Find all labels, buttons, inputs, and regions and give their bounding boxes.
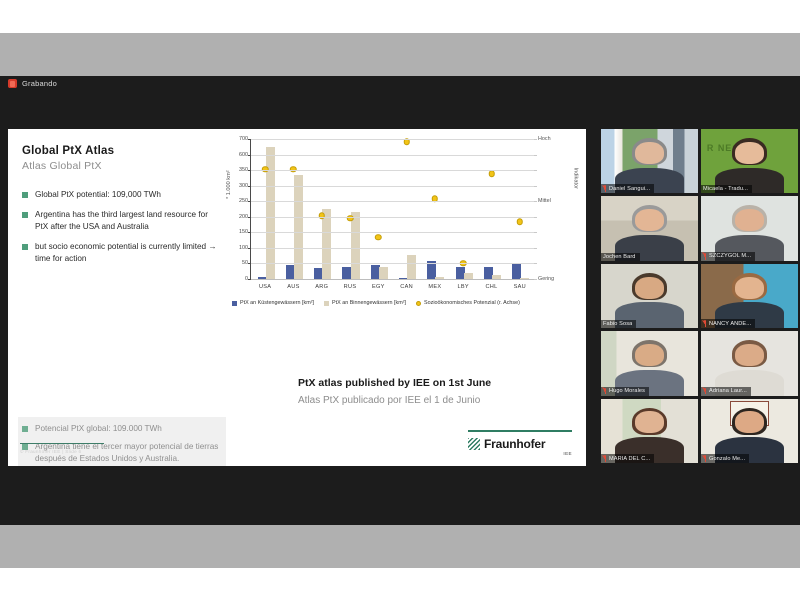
chart-caption-english: PtX atlas published by IEE on 1st June [298,377,491,389]
participant-nameplate: Fabio Sosa [601,320,636,328]
chart-x-tick: LBY [449,284,477,290]
participant-face [735,209,764,231]
chart-y-tick-mark [248,263,251,264]
participant-face [635,344,664,366]
chart-category: ARG [308,139,336,279]
chart-gridline [251,186,534,187]
chart-y-tick-mark [248,217,251,218]
participant-nameplate: SZCZYGOL M... [701,252,755,261]
mic-slash-icon [702,387,706,392]
chart-category: EGY [364,139,392,279]
list-item: Potencial PtX global: 109.000 TWh [22,423,222,435]
logo-name: Fraunhofer [484,438,545,450]
chart-x-tick: CHL [477,284,505,290]
participant-name: NANCY ANDE... [709,321,751,327]
chart-category: LBY [449,139,477,279]
letterbox-band-top [0,33,800,76]
shared-slide[interactable]: Global PtX Atlas Atlas Global PtX Global… [8,129,586,466]
chart-x-tick: ARG [308,284,336,290]
chart-y-tick: 350 [239,167,248,173]
logo-institute: IEE [468,451,572,456]
participant-video [601,264,698,328]
chart-right-tick-mark [534,263,537,264]
chart-right-tick-mark [534,232,537,233]
chart-y-tick-mark [248,248,251,249]
ptx-chart: * 1.000 km² Indikator USAAUSARGRUSEGYCAN… [226,137,576,317]
chart-y-tick-mark [248,155,251,156]
chart-y-tick-mark [248,201,251,202]
mic-muted-icon [703,455,707,462]
chart-right-tick-mark [534,170,537,171]
participant-tile[interactable]: Hugo Morales [601,331,698,395]
participant-nameplate: Daniel Sangui... [601,184,654,193]
participant-tile[interactable]: Gonzalo Me... [701,399,798,463]
chart-category: RUS [336,139,364,279]
recording-indicator[interactable]: Grabando [8,79,57,88]
participant-name: Daniel Sangui... [609,186,650,192]
participant-nameplate: MARIA DEL C... [601,454,654,463]
participant-tile[interactable]: MARIA DEL C... [601,399,698,463]
participant-face [635,411,664,433]
chart-gridline [251,263,534,264]
participant-nameplate: Hugo Morales [601,387,649,396]
chart-gridline [251,232,534,233]
mic-slash-icon [602,455,606,460]
chart-right-tick-mark [534,279,537,280]
chart-legend: PtX an Küstengewässern [km²]PtX an Binne… [232,300,520,306]
participant-name: Fabio Sosa [603,321,632,327]
bullet-list-english: Global PtX potential: 109,000 TWh Argent… [22,189,222,272]
chart-category: CHL [477,139,505,279]
participant-face [735,344,764,366]
chart-x-tick: RUS [336,284,364,290]
mic-muted-icon [603,185,607,192]
bullet-text: but socio economic potential is currentl… [35,241,222,265]
mic-muted-icon [703,388,707,395]
bar-inland [379,267,388,279]
participant-tile[interactable]: Daniel Sangui... [601,129,698,193]
chart-right-tick-mark [534,139,537,140]
chart-right-axis-label: Indikator [572,168,578,189]
chart-y-tick: 250 [239,198,248,204]
mic-muted-icon [703,320,707,327]
scatter-point-socioeconomic [375,234,382,241]
chart-y-axis-label: * 1.000 km² [226,170,232,199]
participant-grid: Daniel Sangui...R NEGROMicaela - Tradu..… [601,129,798,466]
participant-face [635,142,664,164]
legend-swatch [324,301,329,306]
list-item: Argentina has the third largest land res… [22,209,222,233]
chart-gridline [251,170,534,171]
chart-y-tick: 150 [239,229,248,235]
mic-slash-icon [702,252,706,257]
chart-gridline [251,201,534,202]
participant-name: Adriana Laur... [709,388,747,394]
chart-x-tick: EGY [364,284,392,290]
fraunhofer-mark-icon [468,438,480,450]
chart-category: SAU [506,139,534,279]
bullet-text: Global PtX potential: 109,000 TWh [35,189,161,201]
legend-label: Sozioökonomisches Potenzial (r. Achse) [424,300,520,306]
chart-category: MEX [421,139,449,279]
chart-y-tick-mark [248,186,251,187]
bullet-square-icon [22,192,28,198]
chart-gridline [251,155,534,156]
chart-y-tick: 600 [239,152,248,158]
slide-subtitle: Atlas Global PtX [22,160,102,172]
legend-swatch [416,301,421,306]
bullet-square-icon [22,426,28,432]
participant-name: MARIA DEL C... [609,456,650,462]
legend-label: PtX an Küstengewässern [km²] [240,300,314,306]
chart-right-tick: Gering [538,276,554,282]
legend-item: Sozioökonomisches Potenzial (r. Achse) [416,300,520,306]
chart-right-tick-mark [534,201,537,202]
chart-y-tick: 100 [239,245,248,251]
list-item: but socio economic potential is currentl… [22,241,222,265]
chart-gridline [251,217,534,218]
legend-item: PtX an Binnengewässern [km²] [324,300,406,306]
participant-name: Micaela - Tradu... [703,186,748,192]
participant-video: R NEGRO [701,129,798,193]
participant-tile[interactable]: Jochen Bard [601,196,698,260]
chart-right-tick-mark [534,217,537,218]
bar-inland [351,212,360,279]
recording-label: Grabando [22,79,57,88]
screen: Grabando Global PtX Atlas Atlas Global P… [0,0,800,600]
chart-x-tick: MEX [421,284,449,290]
scatter-point-socioeconomic [517,219,524,226]
chart-y-tick: 700 [239,136,248,142]
participant-tile[interactable]: NANCY ANDE... [701,264,798,328]
participant-nameplate: Micaela - Tradu... [701,185,752,193]
participant-face [735,277,764,299]
mic-muted-icon [703,253,707,260]
chart-y-tick-mark [248,232,251,233]
chart-y-tick-mark [248,170,251,171]
participant-name: Hugo Morales [609,388,645,394]
chart-right-tick: Mittel [538,198,551,204]
bullet-square-icon [22,244,28,250]
mic-muted-icon [603,455,607,462]
footer-rule [20,443,104,444]
participant-tile[interactable]: Fabio Sosa [601,264,698,328]
chart-x-tick: SAU [506,284,534,290]
participant-nameplate: Jochen Bard [601,253,640,261]
legend-item: PtX an Küstengewässern [km²] [232,300,314,306]
participant-face [635,277,664,299]
bullet-list-spanish: Potencial PtX global: 109.000 TWh Argent… [18,417,226,466]
chart-caption-spanish: Atlas PtX publicado por IEE el 1 de Juni… [298,395,480,406]
letterbox-band-bottom [0,525,800,568]
mic-slash-icon [702,320,706,325]
record-icon [8,79,17,88]
legend-label: PtX an Binnengewässern [km²] [332,300,406,306]
slide-footer: © Fraunhofer IEE | Slide 6 [20,449,81,454]
participant-tile[interactable]: SZCZYGOL M... [701,196,798,260]
participant-nameplate: NANCY ANDE... [701,319,755,328]
chart-x-tick: USA [251,284,279,290]
participant-tile[interactable]: Adriana Laur... [701,331,798,395]
chart-category: USA [251,139,279,279]
participant-name: SZCZYGOL M... [709,253,751,259]
participant-face [635,209,664,231]
chart-category: AUS [279,139,307,279]
chart-gridline [251,139,534,140]
bar-coastal [512,264,521,279]
chart-right-tick-mark [534,155,537,156]
participant-face [735,411,764,433]
participant-nameplate: Adriana Laur... [701,387,751,396]
chart-bars: USAAUSARGRUSEGYCANMEXLBYCHLSAU [251,139,534,279]
bar-inland [407,255,416,279]
chart-plot-area: USAAUSARGRUSEGYCANMEXLBYCHLSAU 050100150… [250,139,534,279]
list-item: Global PtX potential: 109,000 TWh [22,189,222,201]
chart-y-tick: 300 [239,183,248,189]
participant-tile[interactable]: R NEGROMicaela - Tradu... [701,129,798,193]
logo-rule [468,430,572,432]
mic-muted-icon [603,388,607,395]
scatter-point-socioeconomic [488,170,495,177]
chart-gridline [251,248,534,249]
participant-nameplate: Gonzalo Me... [701,454,749,463]
scatter-point-socioeconomic [318,212,325,219]
chart-right-tick-mark [534,186,537,187]
bar-inland [322,209,331,279]
bullet-text: Argentina has the third largest land res… [35,209,222,233]
chart-x-tick: AUS [279,284,307,290]
participant-face [735,142,764,164]
chart-y-tick-mark [248,279,251,280]
slide-title: Global PtX Atlas [22,145,114,157]
bullet-square-icon [22,212,28,218]
chart-x-tick: CAN [392,284,420,290]
chart-gridline [251,279,534,280]
chart-right-tick-mark [534,248,537,249]
mic-slash-icon [602,387,606,392]
chart-y-tick-mark [248,139,251,140]
participant-video [601,196,698,260]
chart-category: CAN [392,139,420,279]
legend-swatch [232,301,237,306]
chart-y-tick: 200 [239,214,248,220]
participant-name: Gonzalo Me... [709,456,745,462]
chart-right-tick: Hoch [538,136,551,142]
mic-slash-icon [702,455,706,460]
mic-slash-icon [602,185,606,190]
fraunhofer-logo: Fraunhofer IEE [468,430,572,456]
participant-name: Jochen Bard [603,254,636,260]
bullet-text: Potencial PtX global: 109.000 TWh [35,423,162,435]
